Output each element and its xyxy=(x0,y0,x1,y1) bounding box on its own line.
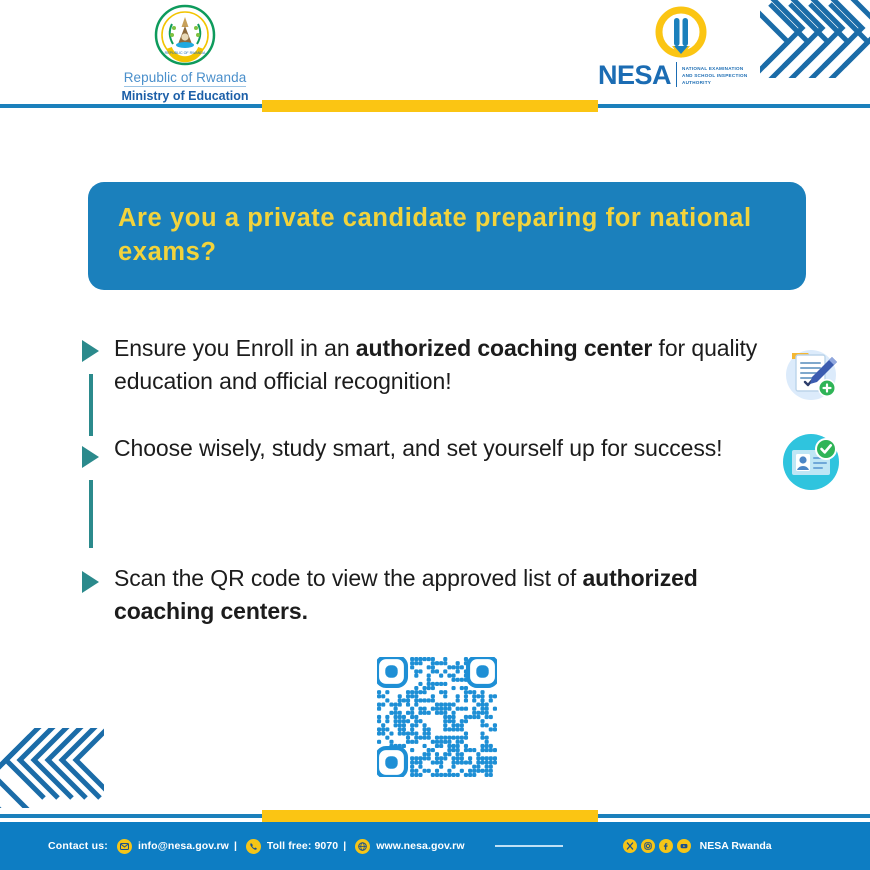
bullet-list: Ensure you Enroll in an authorized coach… xyxy=(80,332,780,628)
ministry-of-education-logo: REPUBLIC OF RWANDA Republic of Rwanda Mi… xyxy=(110,4,260,103)
bullet-marker xyxy=(80,432,114,562)
contact-email[interactable]: info@nesa.gov.rw | xyxy=(117,839,237,854)
contact-website-text: www.nesa.gov.rw xyxy=(376,840,464,852)
divider-yellow-bar xyxy=(262,810,598,822)
facebook-icon[interactable] xyxy=(659,839,673,853)
bullet-marker xyxy=(80,562,114,628)
qr-code-icon[interactable] xyxy=(377,657,497,777)
svg-text:REPUBLIC OF RWANDA: REPUBLIC OF RWANDA xyxy=(165,51,206,55)
bullet-marker xyxy=(80,332,114,432)
nesa-lightbulb-icon xyxy=(648,6,714,66)
instagram-icon[interactable] xyxy=(641,839,655,853)
verified-id-card-icon xyxy=(780,431,842,493)
phone-icon xyxy=(246,839,261,854)
contact-label: Contact us: xyxy=(48,840,108,852)
youtube-icon[interactable] xyxy=(677,839,691,853)
divider-yellow-bar xyxy=(262,100,598,112)
social-links: NESA Rwanda xyxy=(623,839,772,853)
email-icon xyxy=(117,839,132,854)
nesa-subtitle-line3: AUTHORITY xyxy=(682,80,747,87)
nesa-subtitle-line2: AND SCHOOL INSPECTION xyxy=(682,73,747,80)
nesa-subtitle-line1: NATIONAL EXAMINATION xyxy=(682,66,747,73)
social-handle: NESA Rwanda xyxy=(700,840,772,852)
triangle-bullet-icon xyxy=(82,446,99,468)
list-item: Ensure you Enroll in an authorized coach… xyxy=(80,332,780,432)
nesa-logo: NESA NATIONAL EXAMINATION AND SCHOOL INS… xyxy=(598,6,763,89)
separator: | xyxy=(343,840,346,852)
list-item-text: Choose wisely, study smart, and set your… xyxy=(114,432,734,562)
nesa-subtitle: NATIONAL EXAMINATION AND SCHOOL INSPECTI… xyxy=(676,62,747,87)
triangle-bullet-icon xyxy=(82,571,99,593)
bullet-connector-line xyxy=(89,480,93,548)
footer-divider xyxy=(0,810,870,822)
headline-text: Are you a private candidate preparing fo… xyxy=(118,202,776,269)
triangle-bullet-icon xyxy=(82,340,99,362)
bullet-connector-line xyxy=(89,374,93,436)
list-item-text: Scan the QR code to view the approved li… xyxy=(114,562,734,628)
enroll-document-pen-icon xyxy=(780,341,842,403)
page-footer: Contact us: info@nesa.gov.rw | Toll free… xyxy=(0,822,870,870)
contact-phone[interactable]: Toll free: 9070 | xyxy=(246,839,346,854)
contact-email-text: info@nesa.gov.rw xyxy=(138,840,229,852)
list-item: Scan the QR code to view the approved li… xyxy=(80,562,780,628)
footer-rule xyxy=(495,845,563,848)
ministry-line1: Republic of Rwanda xyxy=(124,70,247,87)
globe-icon xyxy=(355,839,370,854)
x-twitter-icon[interactable] xyxy=(623,839,637,853)
page-header: REPUBLIC OF RWANDA Republic of Rwanda Mi… xyxy=(0,0,870,100)
contact-phone-text: Toll free: 9070 xyxy=(267,840,338,852)
list-item: Choose wisely, study smart, and set your… xyxy=(80,432,780,562)
chevron-pattern-icon xyxy=(0,728,104,808)
list-item-text: Ensure you Enroll in an authorized coach… xyxy=(114,332,774,432)
contact-website[interactable]: www.nesa.gov.rw xyxy=(355,839,464,854)
nesa-wordmark: NESA xyxy=(598,62,671,89)
header-divider xyxy=(0,100,870,112)
separator: | xyxy=(234,840,237,852)
rwanda-coat-of-arms-icon: REPUBLIC OF RWANDA xyxy=(154,4,216,66)
headline-banner: Are you a private candidate preparing fo… xyxy=(88,182,806,290)
